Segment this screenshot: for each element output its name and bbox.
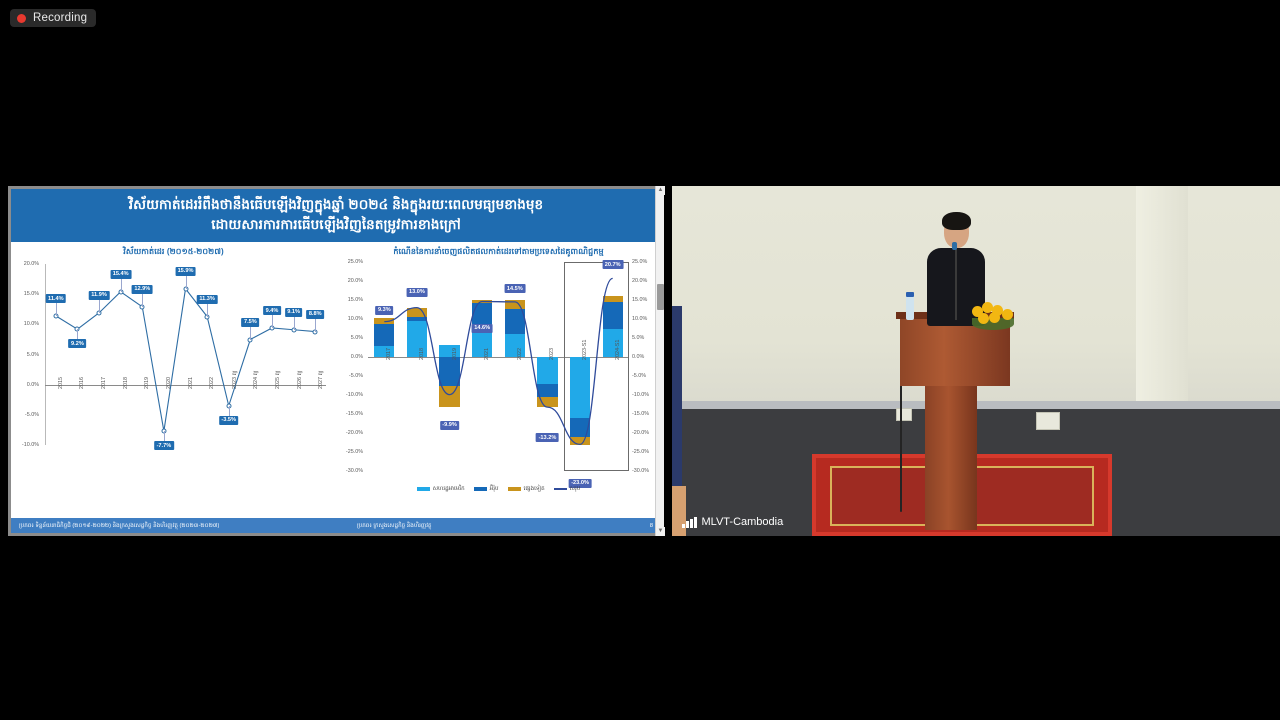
bar-chart-data-label: -13.2% [536, 433, 559, 442]
wall-pillar [1136, 186, 1188, 408]
legend-label: សហរដ្ឋអាមេរិក [433, 485, 465, 493]
bystander-left [672, 306, 682, 486]
scroll-down-arrow-icon[interactable]: ▼ [656, 527, 665, 536]
line-chart-label-leader [250, 327, 251, 340]
line-chart-label-leader [142, 294, 143, 307]
bar-chart-data-label: 13.0% [407, 288, 428, 297]
line-chart-label-leader [272, 315, 273, 328]
slide-page-number: 8 [650, 523, 653, 529]
participant-video-tile[interactable]: MLVT-Cambodia [672, 186, 1280, 536]
microphone-head [952, 242, 957, 250]
legend-swatch [508, 487, 521, 491]
bar-chart-total-line [336, 258, 659, 477]
line-chart-data-label: 8.8% [306, 310, 324, 319]
participant-name-overlay: MLVT-Cambodia [676, 514, 789, 530]
scrollbar-thumb[interactable] [657, 284, 664, 310]
line-chart-x-tick: 2022 [209, 377, 215, 389]
line-chart-title: វិស័យកាត់ដេរ (២០១៥-២០២៧) [11, 242, 336, 258]
line-chart-data-label: 15.4% [110, 270, 131, 279]
line-chart-x-tick: 2024 ព្យ [252, 370, 260, 389]
line-chart-label-leader [294, 317, 295, 330]
bar-chart-legend: សហរដ្ឋអាមេរិកអឺរ៉ុបផ្សេងទៀតសរុប [336, 485, 661, 493]
bar-chart-title: កំណើននៃការនាំចេញផលិតផលកាត់ដេរទៅតាមប្រទេស… [336, 242, 661, 258]
presenter-hair [942, 212, 971, 230]
line-chart-x-tick: 2018 [123, 377, 129, 389]
line-chart-x-tick: 2025 ព្យ [274, 370, 282, 389]
slide-canvas: វិស័យកាត់ដេររំពឹងថានឹងធើបឡើងវិញក្នុងឆ្នា… [11, 189, 661, 533]
signal-bars-icon [682, 517, 697, 528]
bar-chart-data-label: 14.6% [472, 324, 493, 333]
line-chart-label-leader [315, 319, 316, 332]
bar-chart-data-label: 14.5% [504, 284, 525, 293]
line-chart-x-tick: 2017 [101, 377, 107, 389]
line-chart-x-tick: 2027 ព្យ [317, 370, 325, 389]
line-chart-data-label: 11.3% [197, 295, 218, 304]
water-bottle-cap [906, 292, 914, 297]
line-chart-data-label: -3.5% [219, 416, 239, 425]
recording-dot-icon [17, 14, 26, 23]
line-chart-label-leader [77, 329, 78, 339]
line-chart-label-leader [229, 406, 230, 416]
line-chart-data-label: 9.2% [69, 339, 87, 348]
legend-item: ផ្សេងទៀត [508, 485, 545, 493]
slide-source-right: ប្រភព៖ ក្រសួងសេដ្ឋកិច្ច និងហិរញ្ញវត្ថុ [357, 522, 432, 530]
microphone-cable [900, 382, 902, 512]
line-chart-label-leader [164, 431, 165, 441]
slide-scrollbar[interactable]: ▲ ▼ [655, 186, 664, 536]
line-chart-data-label: 11.4% [46, 294, 67, 303]
legend-label: សរុប [570, 485, 581, 493]
line-chart-label-leader [121, 279, 122, 292]
line-chart-data-label: 9.4% [263, 306, 281, 315]
bar-chart-plot: 25.0%25.0%20.0%20.0%15.0%15.0%10.0%10.0%… [336, 258, 659, 477]
meeting-stage: វិស័យកាត់ដេររំពឹងថានឹងធើបឡើងវិញក្នុងឆ្នា… [0, 186, 1280, 536]
slide-source-right-wrap: ប្រភព៖ ក្រសួងសេដ្ឋកិច្ច និងហិរញ្ញវត្ថុ 8 [349, 518, 661, 533]
line-chart-data-label: 12.9% [132, 285, 153, 294]
legend-swatch [474, 487, 487, 491]
slide-title-line-1: វិស័យកាត់ដេររំពឹងថានឹងធើបឡើងវិញក្នុងឆ្នា… [25, 195, 647, 215]
slide-title: វិស័យកាត់ដេររំពឹងថានឹងធើបឡើងវិញក្នុងឆ្នា… [11, 189, 661, 242]
line-chart-label-leader [99, 300, 100, 313]
line-chart-x-tick: 2026 ព្យ [296, 370, 304, 389]
recording-indicator: Recording [10, 9, 96, 27]
shared-screen-panel[interactable]: វិស័យកាត់ដេររំពឹងថានឹងធើបឡើងវិញក្នុងឆ្នា… [8, 186, 664, 536]
line-chart-plot: 20.0%15.0%10.0%5.0%0.0%-5.0%-10.0%11.4%9… [11, 258, 332, 491]
scroll-up-arrow-icon[interactable]: ▲ [656, 186, 665, 195]
podium-column [925, 378, 977, 530]
line-chart-x-tick: 2021 [188, 377, 194, 389]
wall-socket-right [1036, 412, 1060, 430]
flower-bouquet [970, 302, 1016, 328]
line-chart-x-tick: 2023 ព្យ [231, 370, 239, 389]
line-chart-label-leader [207, 304, 208, 317]
flower-petal [989, 312, 1000, 323]
line-chart-data-label: 7.5% [241, 318, 259, 327]
water-bottle [906, 296, 914, 320]
microphone-stem [955, 246, 957, 320]
line-chart-x-tick: 2016 [79, 377, 85, 389]
flower-petal [1002, 309, 1013, 320]
legend-item: សហរដ្ឋអាមេរិក [417, 485, 465, 493]
slide-charts-area: វិស័យកាត់ដេរ (២០១៥-២០២៧) 20.0%15.0%10.0%… [11, 242, 661, 495]
bar-chart-data-label: 9.3% [375, 306, 393, 315]
bar-chart-data-label: 20.7% [602, 260, 623, 269]
slide-title-line-2: ដោយសារការការធើបឡើងវិញនៃតម្រូវការខាងក្រៅ [25, 215, 647, 235]
legend-item: អឺរ៉ុប [474, 485, 499, 493]
slide-source-left: ប្រភព៖ ទិន្នន័យនាធិកិច្ចជិ (២០១៩-២០២២) ន… [11, 518, 349, 533]
line-chart-data-label: 15.9% [175, 267, 196, 276]
line-chart-x-tick: 2015 [58, 377, 64, 389]
legend-swatch [417, 487, 430, 491]
line-chart-data-label: 11.9% [89, 291, 110, 300]
legend-label: អឺរ៉ុប [490, 485, 499, 493]
bar-chart-data-label: -9.9% [440, 421, 460, 430]
recording-label: Recording [33, 12, 87, 24]
participant-name: MLVT-Cambodia [702, 516, 784, 528]
line-chart-data-label: -7.7% [154, 441, 174, 450]
wall-socket-left [896, 408, 912, 421]
flower-petal [978, 313, 989, 324]
line-chart-label-leader [186, 276, 187, 289]
slide-footer: ប្រភព៖ ទិន្នន័យនាធិកិច្ចជិ (២០១៩-២០២២) ន… [11, 518, 661, 533]
line-chart-x-tick: 2019 [144, 377, 150, 389]
line-chart: វិស័យកាត់ដេរ (២០១៥-២០២៧) 20.0%15.0%10.0%… [11, 242, 336, 495]
line-chart-label-leader [56, 303, 57, 316]
legend-item: សរុប [554, 485, 581, 493]
line-chart-data-label: 9.1% [285, 308, 303, 317]
line-chart-x-tick: 2020 [166, 377, 172, 389]
legend-label: ផ្សេងទៀត [524, 485, 545, 493]
legend-swatch [554, 488, 567, 490]
stacked-bar-chart: កំណើននៃការនាំចេញផលិតផលកាត់ដេរទៅតាមប្រទេស… [336, 242, 661, 495]
